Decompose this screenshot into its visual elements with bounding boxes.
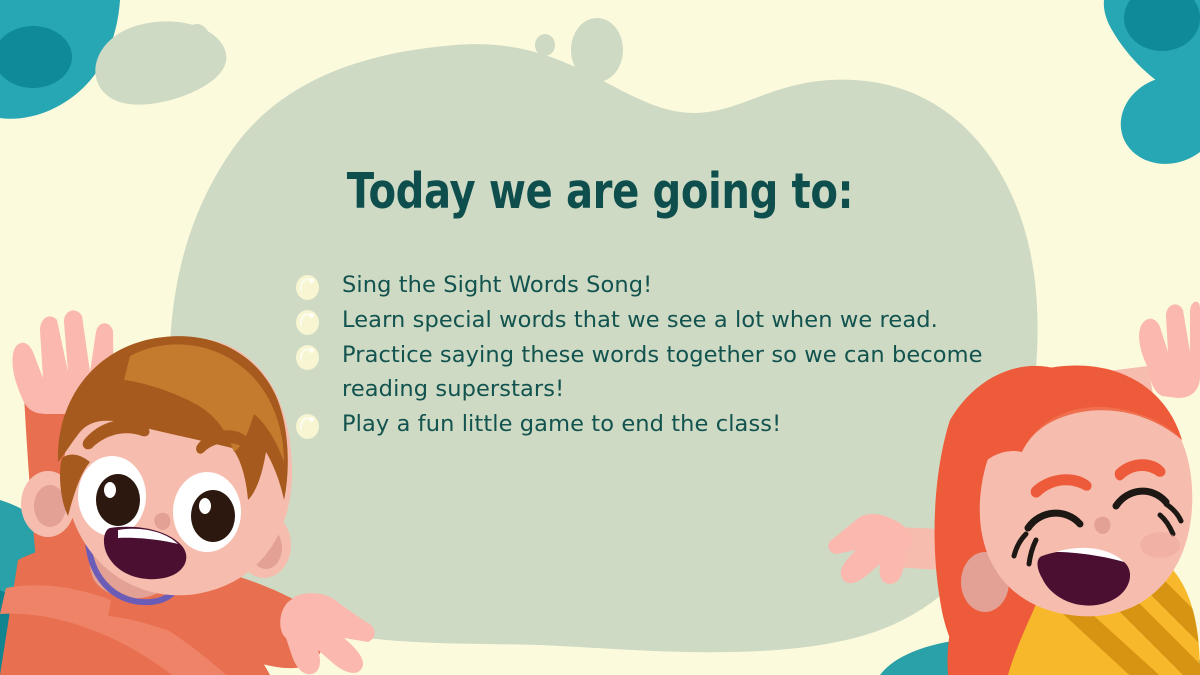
- list-item-label: Sing the Sight Words Song!: [342, 268, 652, 302]
- list-item: Practice saying these words together so …: [296, 338, 1026, 406]
- list-item-label: Practice saying these words together so …: [342, 338, 983, 406]
- list-item: Play a fun little game to end the class!: [296, 407, 1026, 441]
- list-item-label: Play a fun little game to end the class!: [342, 407, 781, 441]
- pearl-bullet-icon: [296, 414, 319, 439]
- pearl-bullet-icon: [296, 275, 319, 300]
- pearl-bullet-icon: [296, 310, 319, 335]
- slide-canvas: Today we are going to: Sing the Sight Wo…: [0, 0, 1200, 675]
- agenda-list: Sing the Sight Words Song! Learn special…: [296, 268, 1026, 441]
- pearl-bullet-icon: [296, 345, 319, 370]
- list-item-label: Learn special words that we see a lot wh…: [342, 303, 938, 337]
- list-item: Learn special words that we see a lot wh…: [296, 303, 1026, 337]
- list-item: Sing the Sight Words Song!: [296, 268, 1026, 302]
- page-title: Today we are going to:: [108, 165, 1092, 219]
